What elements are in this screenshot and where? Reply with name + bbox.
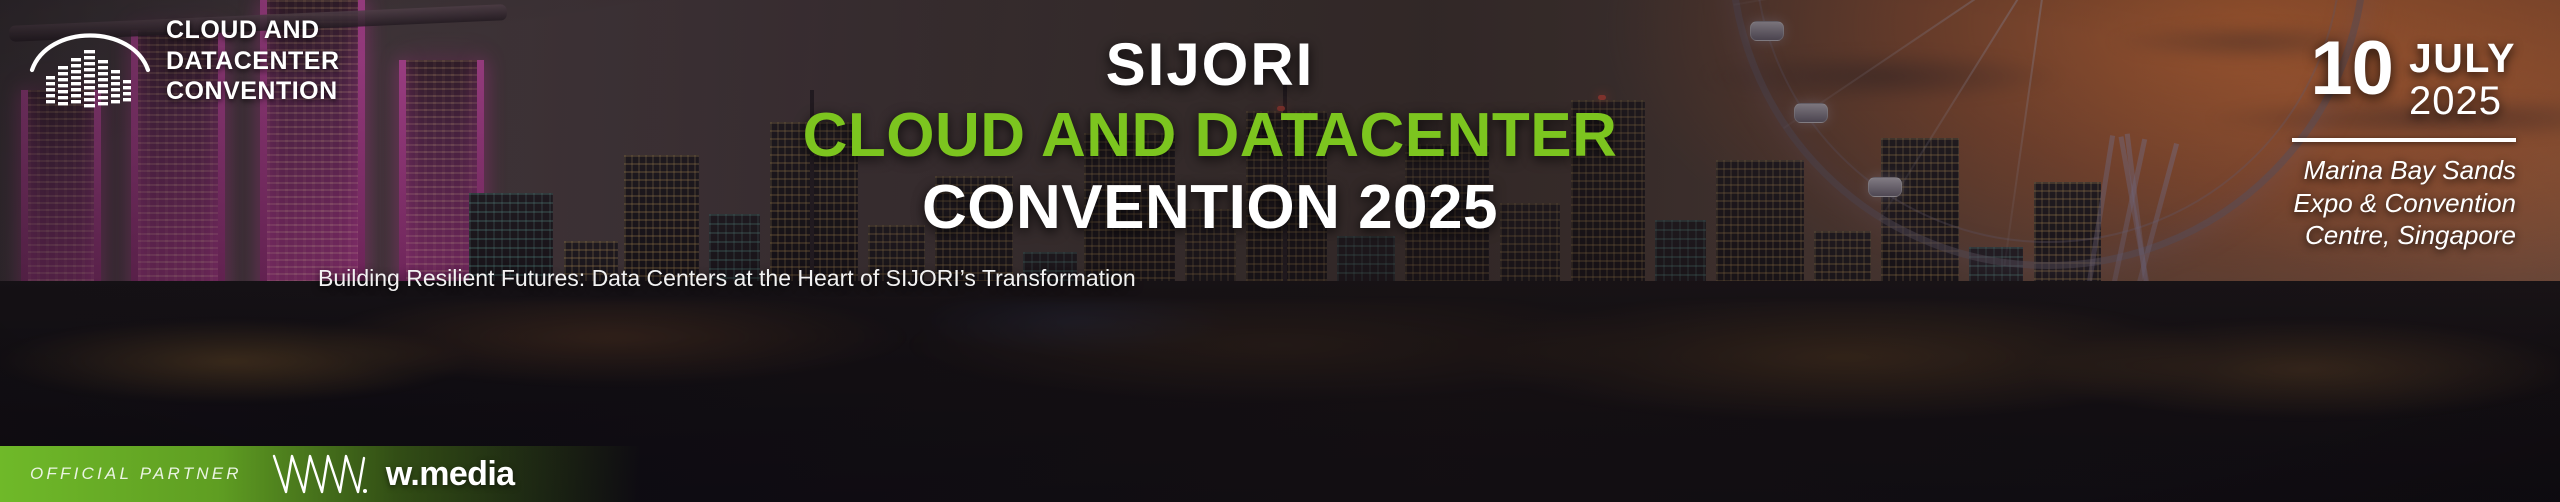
title-main: CONVENTION 2025 (922, 173, 1498, 242)
wmedia-zigzag-wave-icon (270, 452, 378, 496)
venue-line-1: Marina Bay Sands (2304, 155, 2516, 185)
title-eyebrow: SIJORI (1106, 34, 1315, 95)
divider-rule (2292, 138, 2516, 142)
wmedia-wordmark: w.media (386, 455, 515, 494)
event-month: JULY (2409, 38, 2516, 79)
wmedia-logo[interactable]: w.media (270, 452, 515, 496)
title-subtitle: Building Resilient Futures: Data Centers… (318, 262, 1136, 295)
title-highlight: CLOUD AND DATACENTER (803, 101, 1618, 170)
date-venue-block: 10 JULY 2025 Marina Bay Sands Expo & Con… (2136, 34, 2516, 252)
event-year: 2025 (2409, 79, 2502, 124)
official-partner-label: OFFICIAL PARTNER (30, 464, 242, 484)
event-day: 10 (2310, 34, 2393, 104)
venue-line-3: Centre, Singapore (2305, 220, 2516, 250)
official-partner-bar: OFFICIAL PARTNER w.media (0, 446, 640, 502)
venue-line-2: Expo & Convention (2293, 188, 2516, 218)
event-venue: Marina Bay Sands Expo & Convention Centr… (2293, 154, 2516, 252)
event-banner: CLOUD AND DATACENTER CONVENTION SIJORI C… (0, 0, 2560, 502)
event-date: 10 JULY 2025 (2310, 34, 2516, 124)
